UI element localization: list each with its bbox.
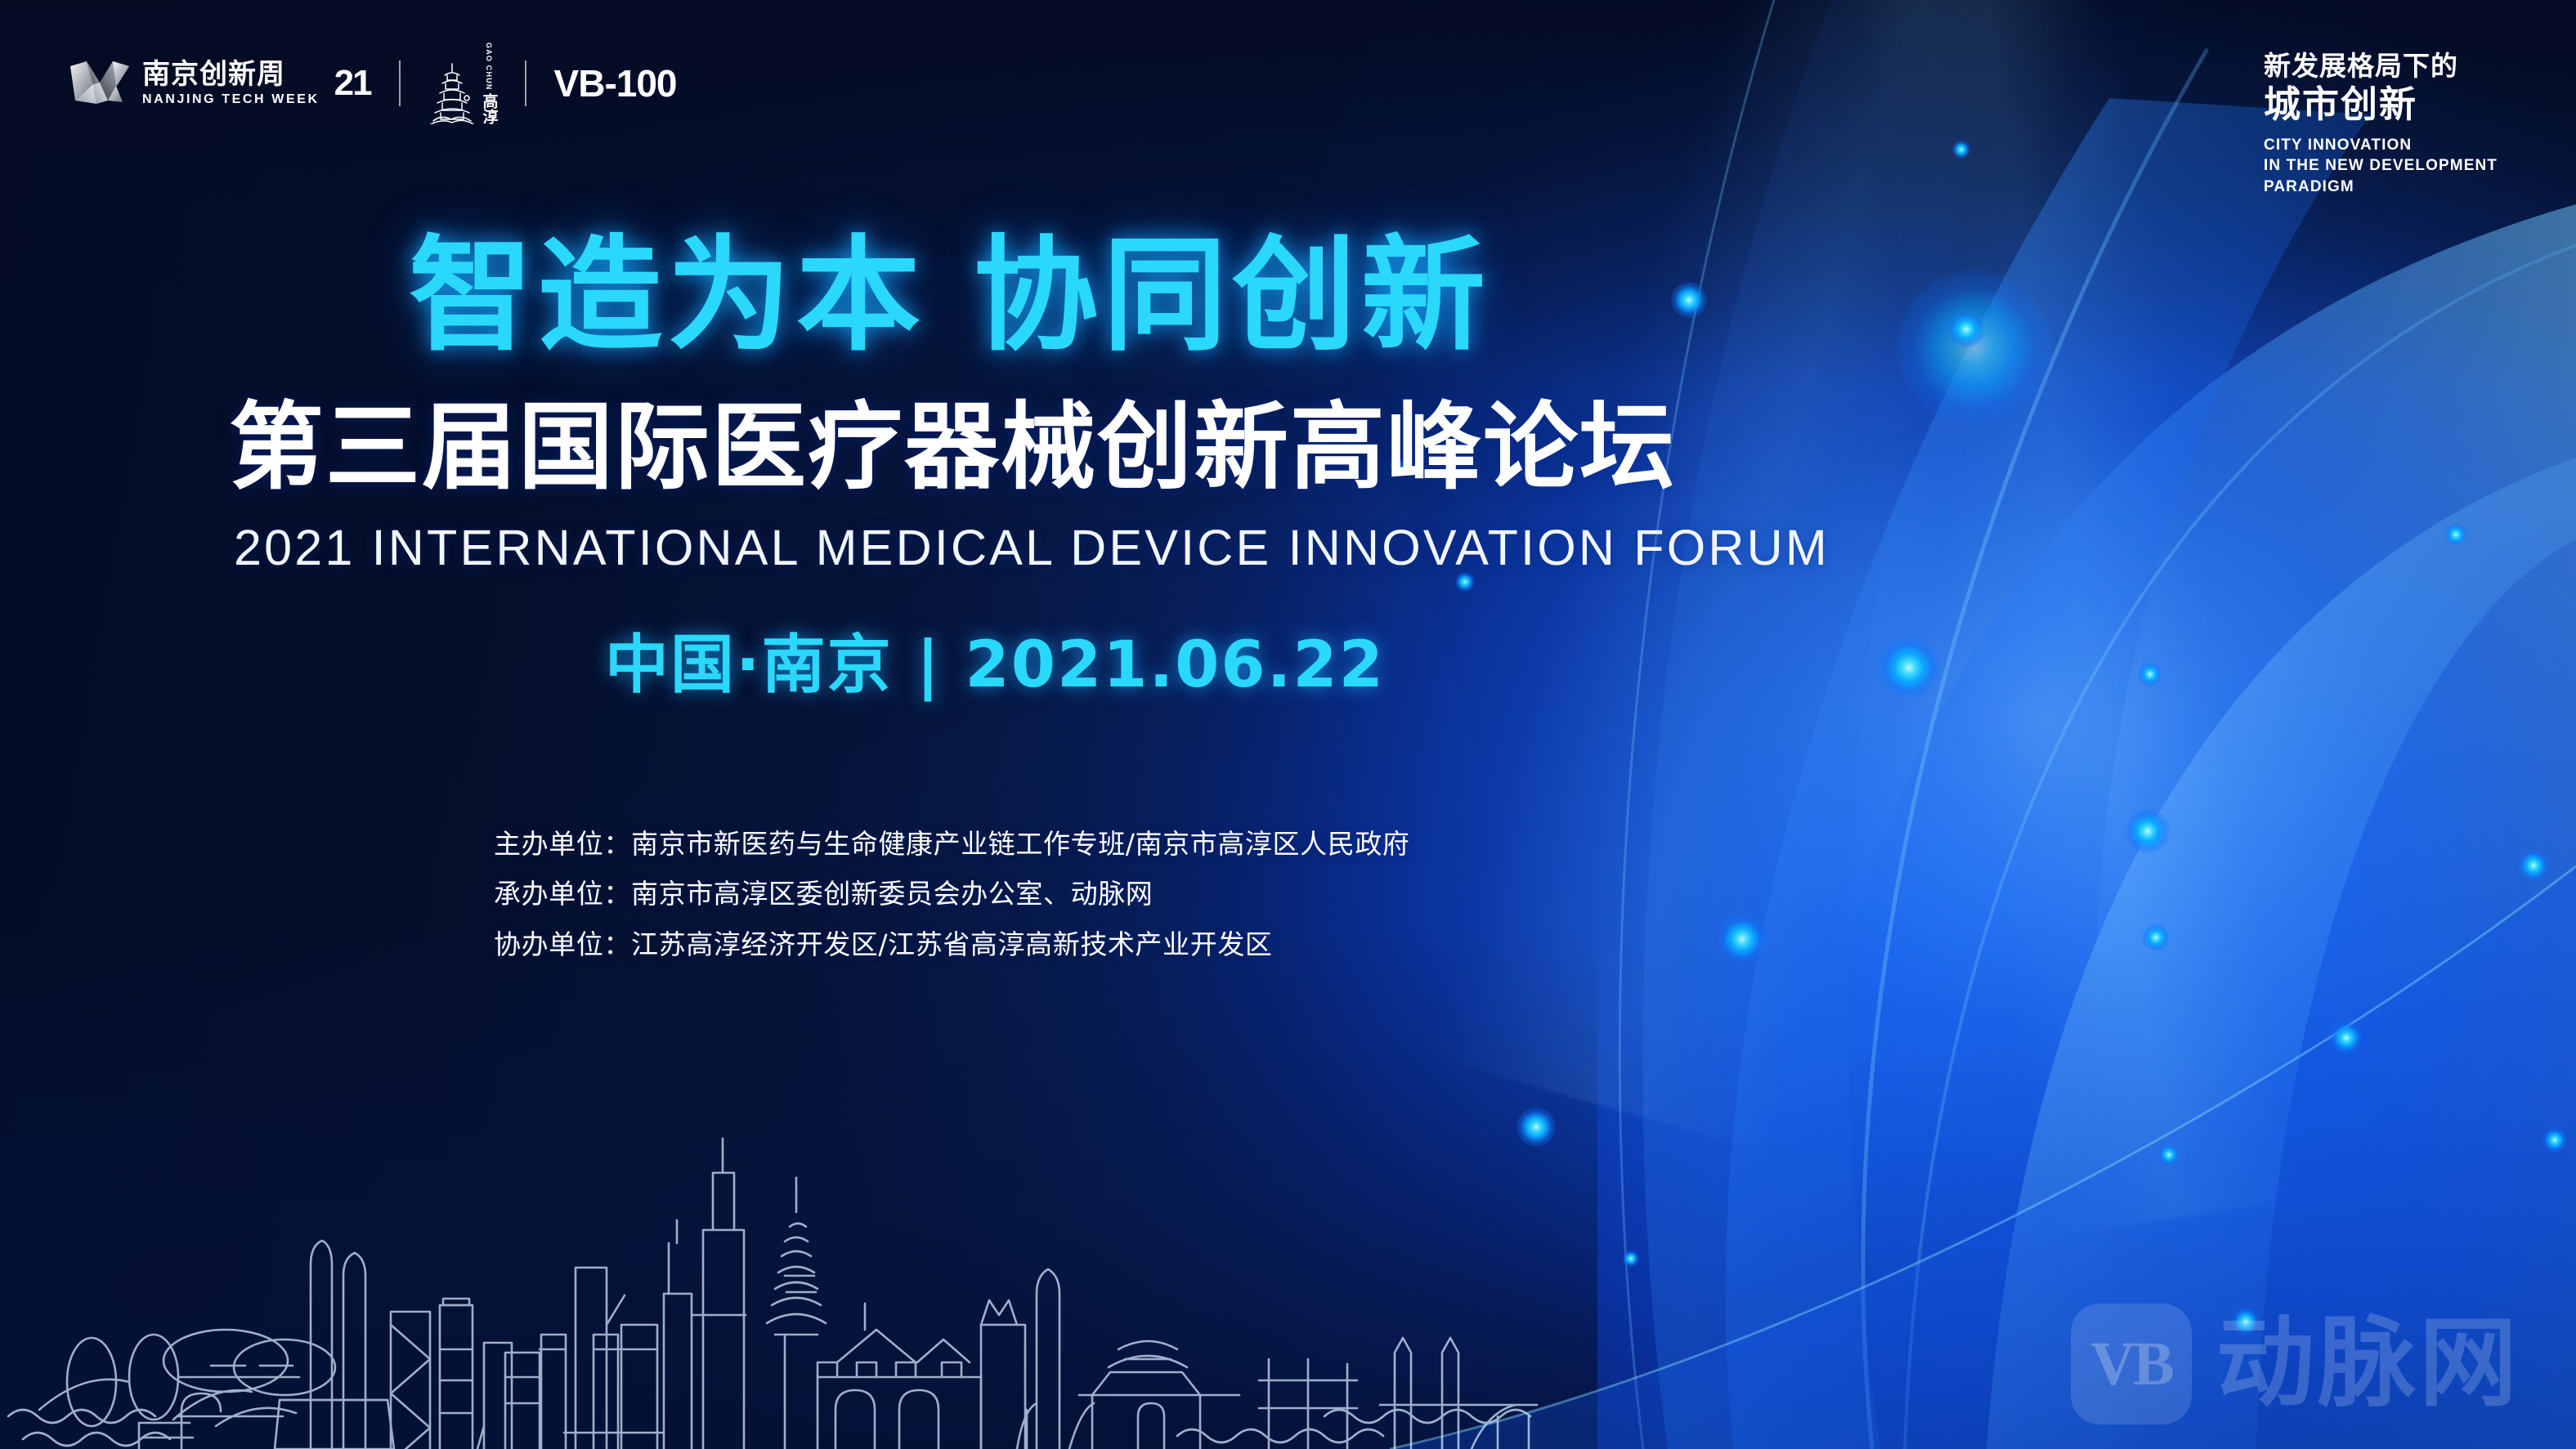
theme-english: CITY INNOVATION IN THE NEW DEVELOPMENT P… — [2264, 135, 2498, 197]
ntw-logo-en: NANJING TECH WEEK — [142, 93, 320, 106]
vb-badge-label: VB — [2090, 1333, 2172, 1395]
gaochun-logo-en: GAO CHUN — [485, 42, 492, 91]
theme-en-line-1: CITY INNOVATION — [2264, 135, 2498, 155]
poster-date-location: 中国·南京 | 2021.06.22 — [605, 633, 1385, 697]
logo-vb100: VB-100 — [554, 65, 677, 102]
vb-badge-icon: VB — [2071, 1304, 2192, 1424]
theme-en-line-3: PARADIGM — [2264, 177, 2498, 197]
pagoda-icon — [428, 60, 476, 124]
poster-title-en: 2021 INTERNATIONAL MEDICAL DEVICE INNOVA… — [234, 523, 1830, 573]
logo-nanjing-tech-week: 南京创新周 NANJING TECH WEEK 21 — [69, 58, 371, 109]
city-skyline-illustration — [0, 1089, 1684, 1449]
poster-title-cn: 第三届国际医疗器械创新高峰论坛 — [229, 400, 1676, 495]
organizer-coorganizer: 协办单位：江苏高淳经济开发区/江苏省高淳高新技术产业开发区 — [494, 928, 1410, 961]
organizer-host: 主办单位：南京市新医药与生命健康产业链工作专班/南京市高淳区人民政府 — [494, 827, 1410, 861]
theme-en-line-2: IN THE NEW DEVELOPMENT — [2264, 155, 2498, 176]
ntw-logo-cn: 南京创新周 — [142, 60, 320, 88]
vbdata-watermark: VB 动脉网 — [2071, 1304, 2520, 1424]
vbdata-name: 动脉网 — [2216, 1315, 2520, 1413]
header-logo-bar: 南京创新周 NANJING TECH WEEK 21 — [69, 51, 677, 116]
ntw-logo-year: 21 — [334, 69, 371, 99]
organizer-list: 主办单位：南京市新医药与生命健康产业链工作专班/南京市高淳区人民政府 承办单位：… — [494, 827, 1410, 961]
logo-divider — [399, 60, 401, 106]
poster-canvas: 南京创新周 NANJING TECH WEEK 21 — [0, 0, 2576, 1449]
logo-divider — [525, 60, 526, 106]
theme-line-2: 城市创新 — [2264, 83, 2498, 126]
poster-headline: 智造为本 协同创新 — [409, 234, 1490, 358]
organizer-organizer: 承办单位：南京市高淳区委创新委员会办公室、动脉网 — [494, 877, 1410, 910]
theme-line-1: 新发展格局下的 — [2264, 51, 2498, 83]
nanjing-tech-week-mark-icon — [69, 58, 131, 109]
forum-theme-block: 新发展格局下的 城市创新 CITY INNOVATION IN THE NEW … — [2264, 51, 2498, 197]
logo-gaochun: GAO CHUN 高淳 — [428, 42, 497, 124]
gaochun-logo-cn: 高淳 — [481, 93, 497, 124]
